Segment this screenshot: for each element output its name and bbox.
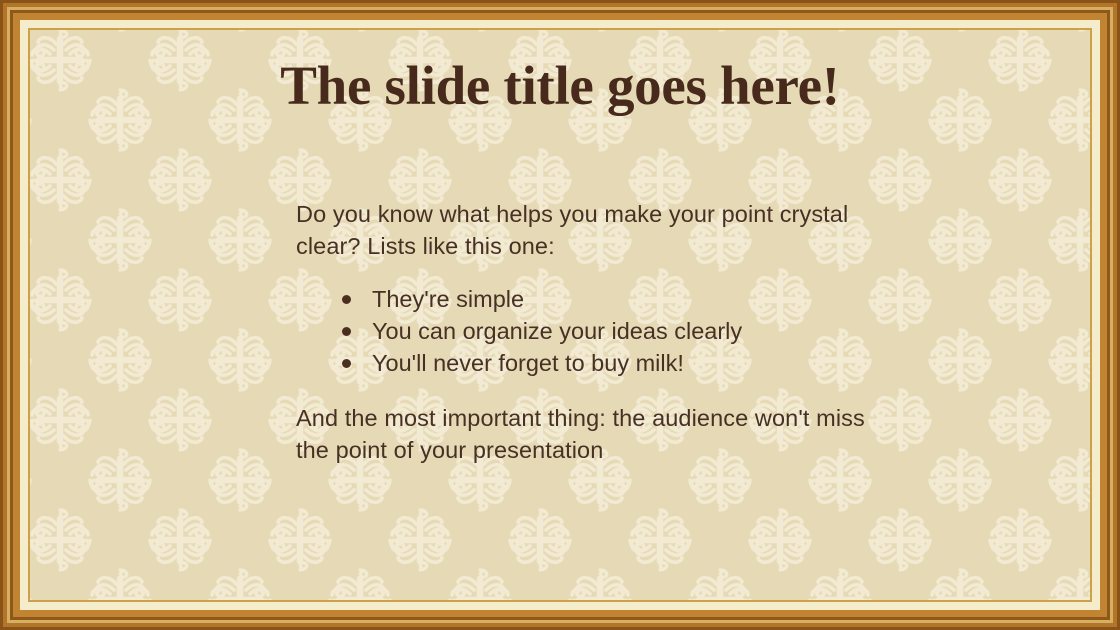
bullet-point-icon: [342, 359, 351, 368]
slide-body: Do you know what helps you make your poi…: [296, 198, 876, 466]
closing-paragraph: And the most important thing: the audien…: [296, 402, 876, 467]
bullet-list: They're simple You can organize your ide…: [296, 284, 876, 380]
list-item: You'll never forget to buy milk!: [342, 348, 876, 379]
list-item-label: You can organize your ideas clearly: [372, 318, 742, 344]
list-item: They're simple: [342, 284, 876, 315]
list-item: You can organize your ideas clearly: [342, 316, 876, 347]
list-item-label: They're simple: [372, 286, 524, 312]
bullet-point-icon: [342, 295, 351, 304]
slide-content-area: The slide title goes here! Do you know w…: [30, 30, 1090, 600]
slide-title: The slide title goes here!: [30, 57, 1090, 115]
bullet-point-icon: [342, 327, 351, 336]
slide-text-container: The slide title goes here! Do you know w…: [30, 30, 1090, 600]
intro-paragraph: Do you know what helps you make your poi…: [296, 198, 876, 263]
presentation-slide: The slide title goes here! Do you know w…: [0, 0, 1120, 630]
list-item-label: You'll never forget to buy milk!: [372, 350, 684, 376]
